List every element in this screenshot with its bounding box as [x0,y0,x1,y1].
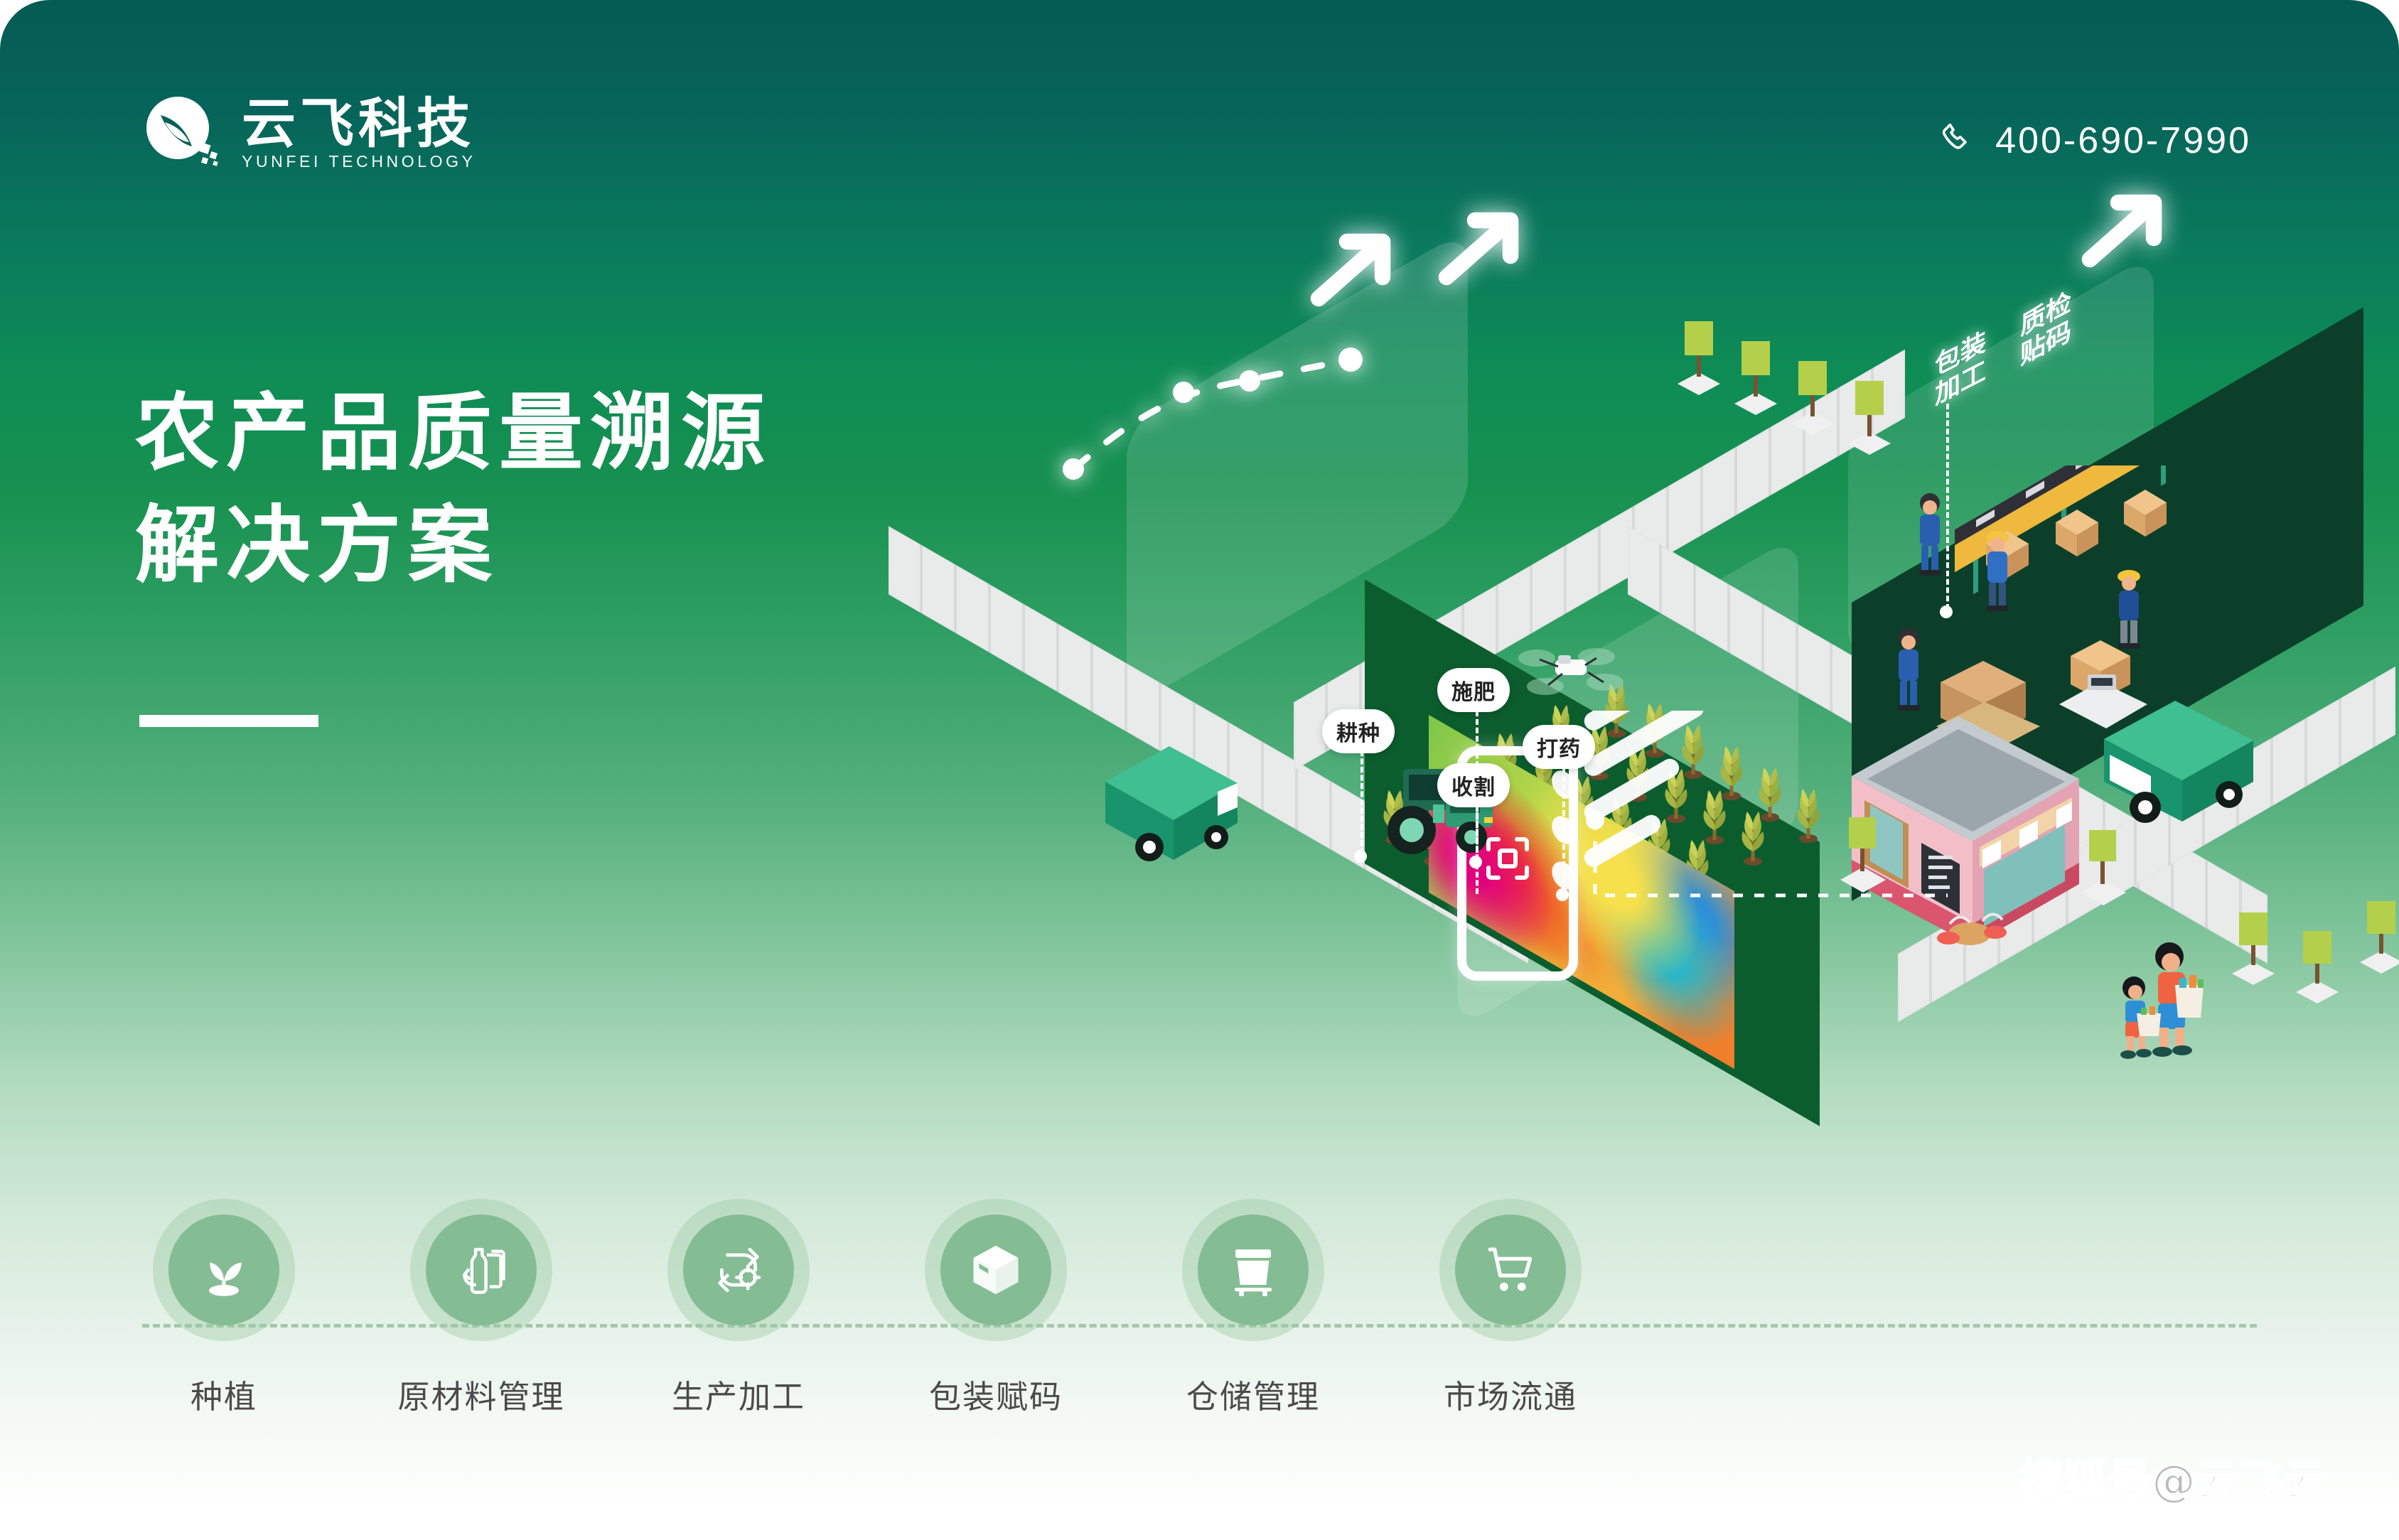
step-label: 种植 [190,1371,257,1417]
step-label: 仓储管理 [1186,1371,1320,1417]
delivery-truck-left [1098,739,1276,878]
glow-dash-trail [1052,256,1379,494]
factory-worker-1 [1909,490,1951,579]
step-halo [1182,1199,1324,1341]
shopping-cart-icon [1455,1215,1566,1325]
headline-line-2: 解决方案 [135,489,772,601]
headline-rule [139,715,318,727]
leaf-circle-logo-icon [139,91,223,175]
step-raw-material[interactable]: 原材料管理 [392,1199,570,1417]
step-label: 市场流通 [1444,1371,1577,1417]
factory-worker-2 [1976,526,2019,615]
step-packaging[interactable]: 包装赋码 [907,1199,1085,1417]
step-label: 包装赋码 [929,1371,1063,1417]
step-halo [410,1199,552,1341]
step-halo [153,1199,295,1341]
hero-banner: 云飞科技 YUNFEI TECHNOLOGY 400-690-7990 农产品质… [0,0,2399,1540]
hero-headline: 农产品质量溯源 解决方案 [135,377,772,601]
bottle-recycle-icon [426,1215,537,1325]
logo-title-en: YUNFEI TECHNOLOGY [242,154,476,170]
step-planting[interactable]: 种植 [135,1199,313,1417]
step-warehouse[interactable]: 仓储管理 [1164,1199,1342,1417]
drone [1514,632,1628,714]
gear-arrows-icon [683,1215,794,1325]
logo-text-block: 云飞科技 YUNFEI TECHNOLOGY [242,97,476,170]
field-label-shifei: 施肥 [1437,668,1510,712]
page-header: 云飞科技 YUNFEI TECHNOLOGY 400-690-7990 [0,0,2399,185]
tree-row-top [1670,298,1969,487]
sprout-icon [168,1215,279,1325]
logo-title-cn: 云飞科技 [242,97,476,151]
step-market[interactable]: 市场流通 [1422,1199,1599,1417]
leader-line-dayao [1562,768,1565,893]
leader-dot-gengzhong [1354,850,1367,863]
headline-line-1: 农产品质量溯源 [135,377,772,489]
step-label: 原材料管理 [397,1371,564,1417]
process-steps: 种植 原材料管理 [0,1199,2399,1433]
step-halo [1439,1199,1582,1341]
phone-icon [1940,121,1977,161]
leader-line-scan [1585,810,1955,956]
leader-dot-factory [1940,605,1953,618]
arrow-up-right-icon-2 [1429,199,1514,284]
shopper-child [2105,974,2169,1070]
arrow-up-right-icon-3 [2072,181,2157,266]
step-label: 生产加工 [672,1371,805,1417]
leader-dot-dayao [1556,888,1569,901]
steps-row: 种植 原材料管理 [135,1199,1599,1417]
leader-line-gengzhong [1360,750,1363,854]
brand-logo[interactable]: 云飞科技 YUNFEI TECHNOLOGY [139,91,476,175]
field-label-gengzhong: 耕种 [1322,709,1395,753]
storage-bin-icon [1198,1215,1309,1325]
field-label-dayao: 打药 [1523,725,1595,769]
leader-line-factory [1946,404,1949,610]
phone-number: 400-690-7990 [1995,119,2251,162]
step-halo [667,1199,810,1341]
contact-phone[interactable]: 400-690-7990 [1940,119,2251,162]
step-halo [925,1199,1067,1341]
watermark: 搜狐号@云飞云 [2019,1445,2328,1509]
step-production[interactable]: 生产加工 [650,1199,827,1417]
box-icon [940,1215,1051,1325]
tree-cluster-right [2225,853,2399,1020]
leader-line-shouge [1476,806,1478,894]
field-label-shouge: 收割 [1437,763,1510,807]
isometric-illustration: 耕种 施肥 打药 收割 包装 加工 质检 贴码 [1059,313,2399,1144]
factory-worker-4 [1887,625,1930,714]
